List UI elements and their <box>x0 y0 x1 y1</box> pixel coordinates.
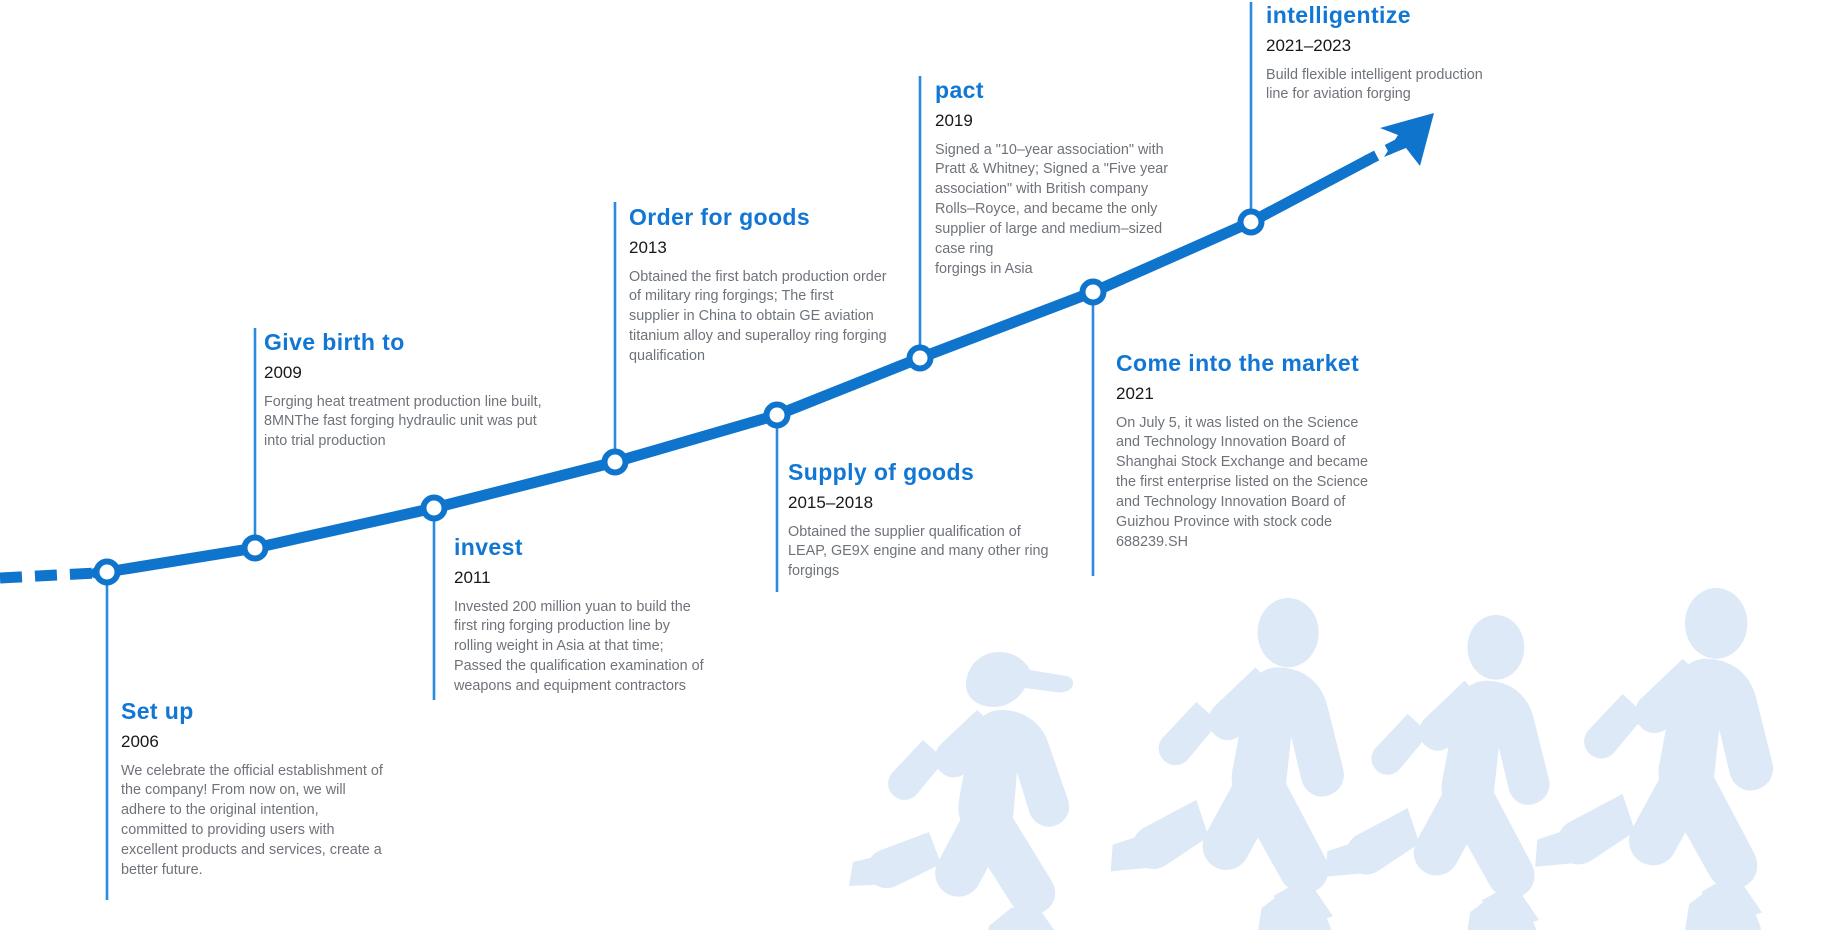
milestone-title: intelligentize <box>1266 2 1546 29</box>
milestone-year: 2021–2023 <box>1266 36 1546 56</box>
milestone-year: 2006 <box>121 732 421 752</box>
milestone-supply-of-goods[interactable]: Supply of goods 2015–2018 Obtained the s… <box>788 459 1078 582</box>
timeline-node[interactable] <box>767 405 788 426</box>
timeline-node[interactable] <box>97 562 118 583</box>
timeline-node[interactable] <box>1083 282 1104 303</box>
timeline-node[interactable] <box>1241 212 1262 233</box>
milestone-description: Invested 200 million yuan to build the f… <box>454 598 764 697</box>
milestone-description: We celebrate the official establishment … <box>121 762 421 881</box>
milestone-year: 2013 <box>629 238 929 258</box>
milestone-description: Obtained the supplier qualification of L… <box>788 523 1078 583</box>
milestone-year: 2019 <box>935 111 1195 131</box>
milestone-set-up[interactable]: Set up 2006 We celebrate the official es… <box>121 698 421 881</box>
milestone-title: Come into the market <box>1116 350 1406 377</box>
milestone-year: 2021 <box>1116 384 1406 404</box>
milestone-title: Set up <box>121 698 421 725</box>
timeline-node[interactable] <box>245 538 266 559</box>
milestone-year: 2011 <box>454 568 764 588</box>
milestone-title: invest <box>454 534 764 561</box>
milestone-title: Supply of goods <box>788 459 1078 486</box>
milestone-description: Forging heat treatment production line b… <box>264 393 594 453</box>
milestone-title: pact <box>935 77 1195 104</box>
milestone-come-into-the-market[interactable]: Come into the market 2021 On July 5, it … <box>1116 350 1406 553</box>
milestone-description: Signed a "10–year association" with Prat… <box>935 141 1195 280</box>
milestone-intelligentize[interactable]: intelligentize 2021–2023 Build flexible … <box>1266 2 1546 105</box>
arrow-head-icon <box>1380 113 1434 166</box>
milestone-description: Obtained the first batch production orde… <box>629 268 929 367</box>
milestone-invest[interactable]: invest 2011 Invested 200 million yuan to… <box>454 534 764 697</box>
milestone-order-for-goods[interactable]: Order for goods 2013 Obtained the first … <box>629 204 929 367</box>
timeline-node[interactable] <box>605 452 626 473</box>
milestone-pact[interactable]: pact 2019 Signed a "10–year association"… <box>935 77 1195 280</box>
milestone-year: 2015–2018 <box>788 493 1078 513</box>
timeline-infographic: Set up 2006 We celebrate the official es… <box>0 0 1822 930</box>
milestone-give-birth-to[interactable]: Give birth to 2009 Forging heat treatmen… <box>264 329 594 452</box>
dashed-lead-left <box>0 573 96 578</box>
milestone-title: Order for goods <box>629 204 929 231</box>
timeline-node[interactable] <box>424 498 445 519</box>
milestone-title: Give birth to <box>264 329 594 356</box>
milestone-year: 2009 <box>264 363 594 383</box>
milestone-description: Build flexible intelligent production li… <box>1266 66 1546 106</box>
milestone-description: On July 5, it was listed on the Science … <box>1116 414 1406 553</box>
